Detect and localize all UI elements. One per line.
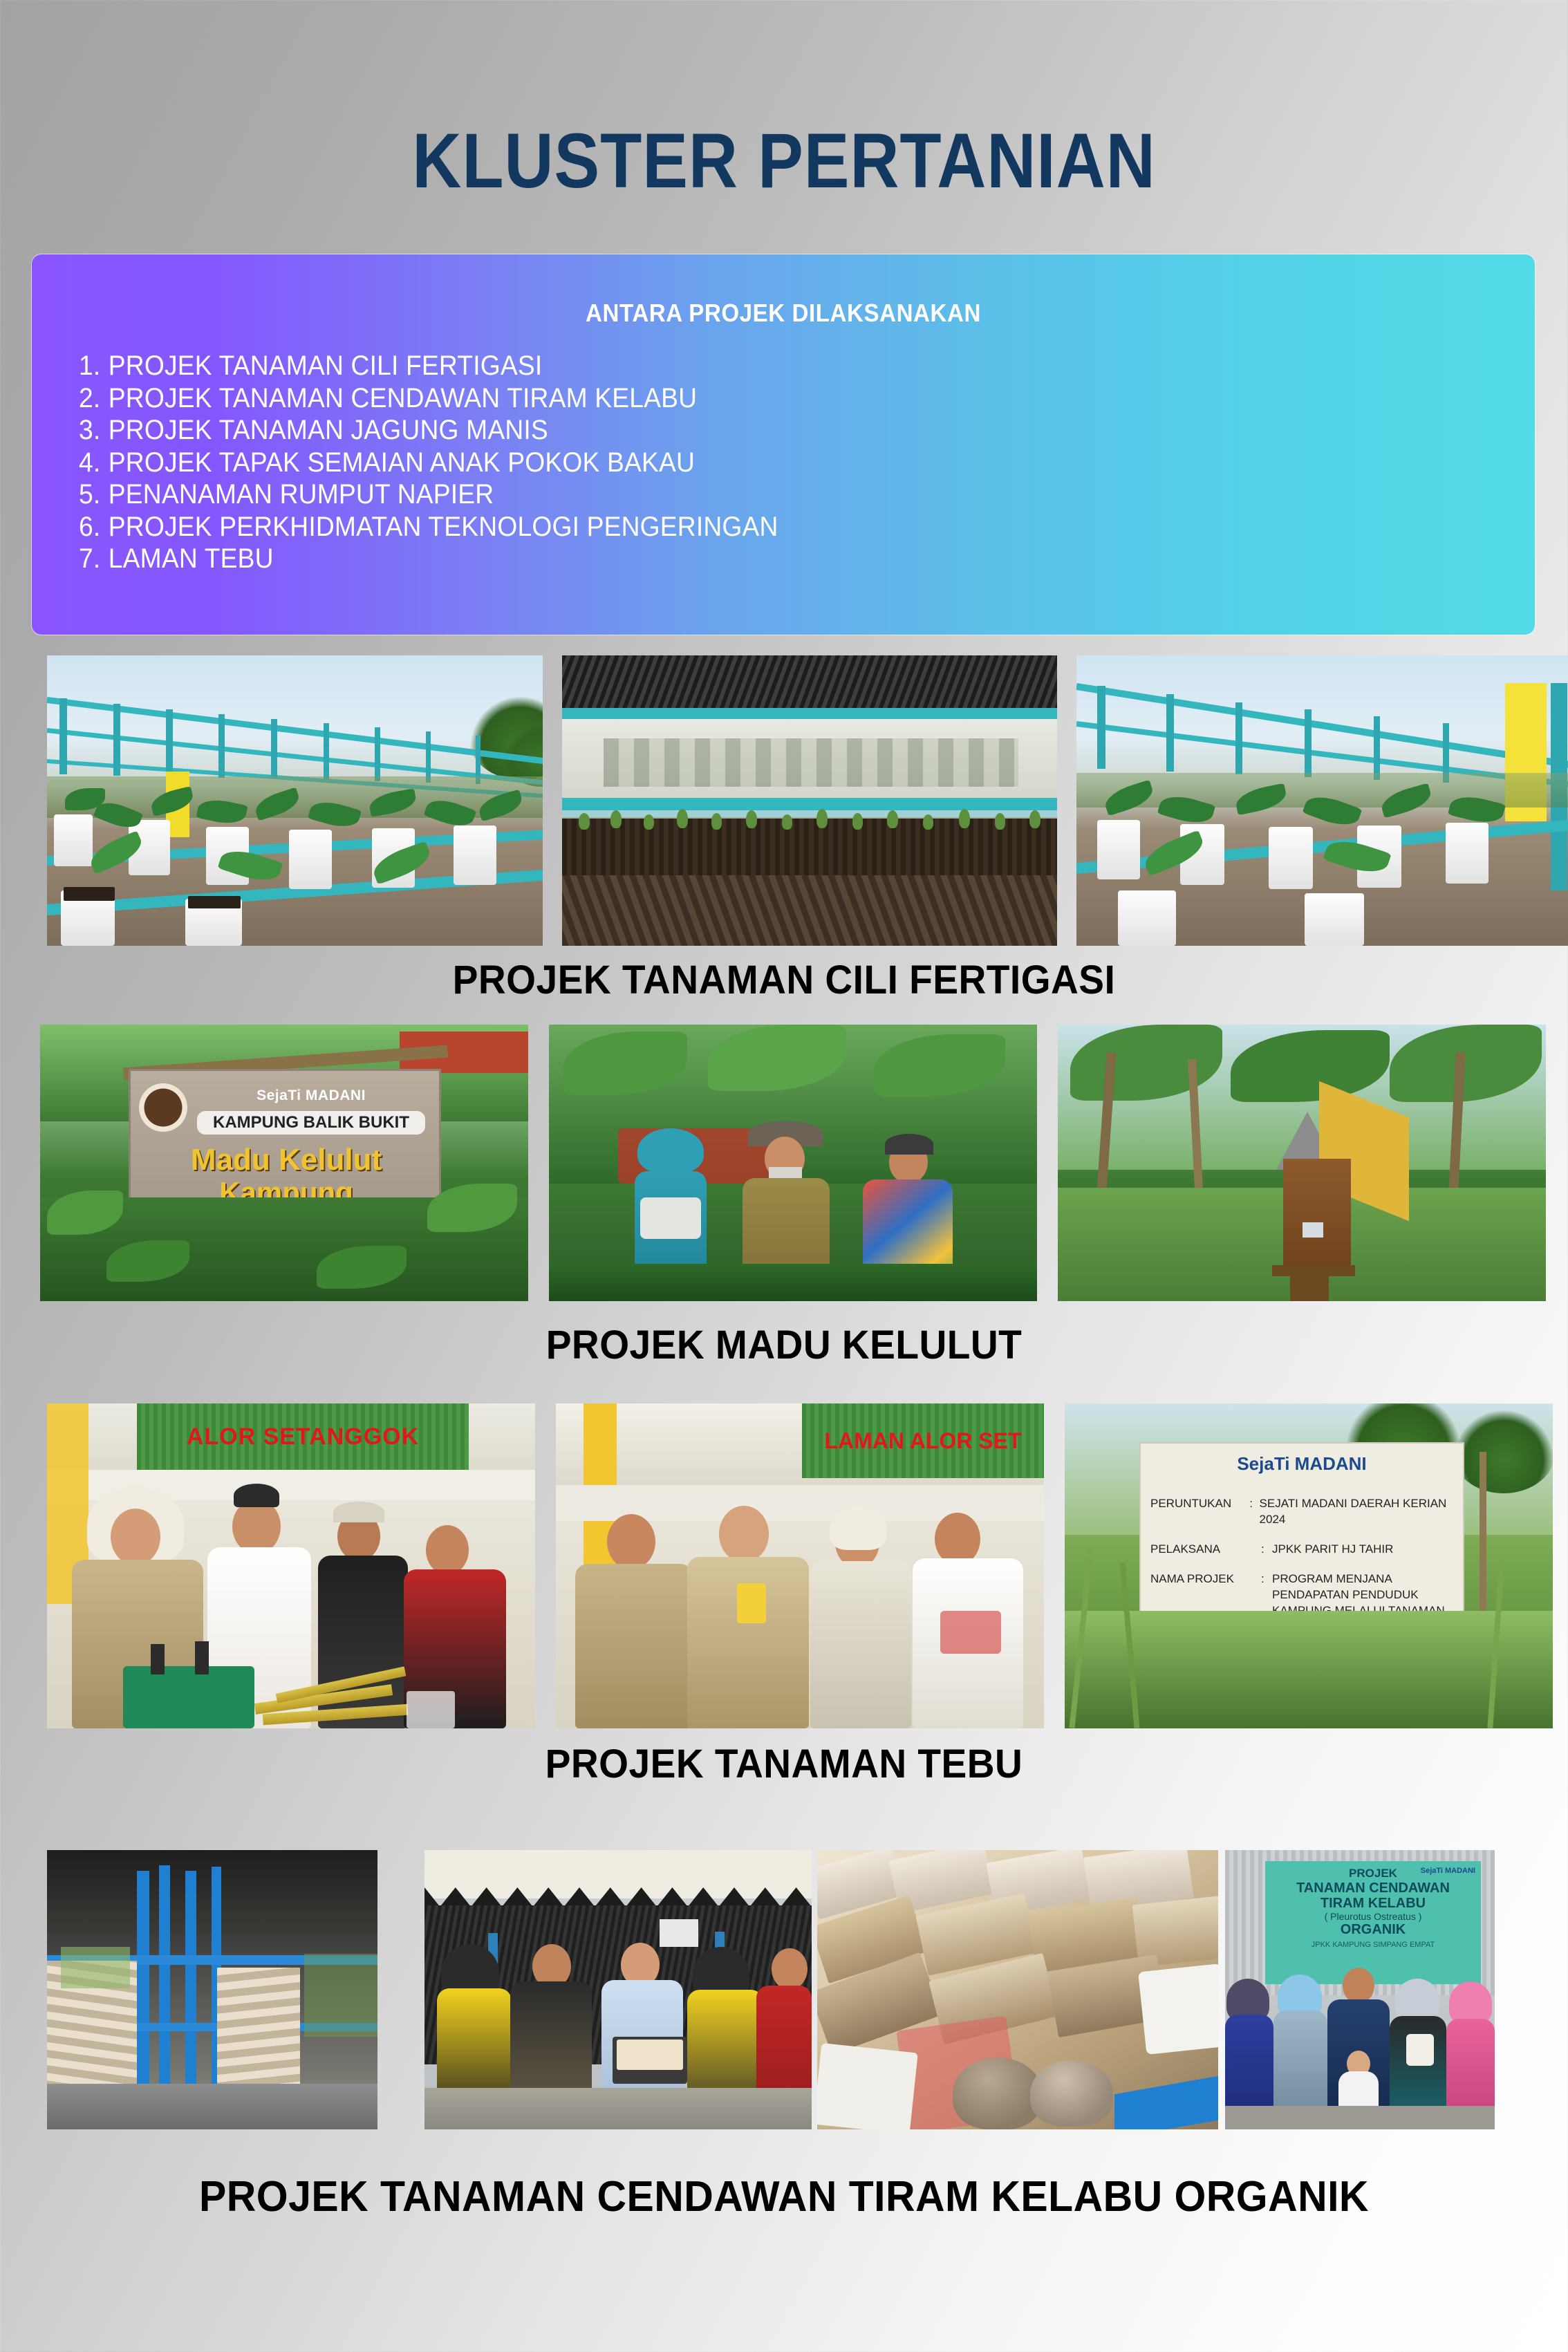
tebu-booth-banner-2: LAMAN ALOR SET [802, 1403, 1044, 1478]
photo-kelulut-hive [1058, 1025, 1546, 1301]
projects-panel: ANTARA PROJEK DILAKSANAKAN 1.PROJEK TANA… [32, 254, 1535, 635]
list-item-label: LAMAN TEBU [109, 543, 274, 574]
section-caption-cili: PROJEK TANAMAN CILI FERTIGASI [39, 957, 1529, 1003]
list-item: 4.PROJEK TAPAK SEMAIAN ANAK POKOK BAKAU [79, 447, 1433, 479]
tebu-sign-brand: SejaTi MADANI [1150, 1453, 1453, 1475]
cendawan-banner-line4: ( Pleurotus Ostreatus ) [1269, 1911, 1477, 1922]
list-item-label: PROJEK PERKHIDMATAN TEKNOLOGI PENGERINGA… [109, 512, 778, 542]
cendawan-banner-line2: TANAMAN CENDAWAN [1269, 1880, 1477, 1896]
list-item: 7.LAMAN TEBU [79, 543, 1433, 575]
list-item-number: 5. [79, 478, 109, 511]
photo-row-tebu: ALOR SETANGGOK LAMAN ALOR SET [47, 1403, 1553, 1728]
list-item-number: 2. [79, 382, 109, 415]
kelulut-sign-product-1: Madu Kelulut [138, 1143, 435, 1177]
list-item: 3.PROJEK TANAMAN JAGUNG MANIS [79, 414, 1433, 447]
section-caption-cendawan: PROJEK TANAMAN CENDAWAN TIRAM KELABU ORG… [39, 2172, 1529, 2221]
page-title: KLUSTER PERTANIAN [94, 116, 1474, 205]
list-item-label: PENANAMAN RUMPUT NAPIER [109, 479, 494, 510]
tebu-sign-value: SEJATI MADANI DAERAH KERIAN 2024 [1260, 1495, 1453, 1527]
list-item-number: 7. [79, 543, 109, 575]
photo-kelulut-people [549, 1025, 1037, 1301]
section-caption-kelulut: PROJEK MADU KELULUT [39, 1322, 1529, 1368]
list-item: 6.PROJEK PERKHIDMATAN TEKNOLOGI PENGERIN… [79, 511, 1433, 543]
photo-row-cendawan: PROJEK TANAMAN CENDAWAN TIRAM KELABU ( P… [47, 1850, 1495, 2129]
kelulut-sign-village: KAMPUNG BALIK BUKIT [197, 1111, 425, 1135]
photo-mushroom-bags [817, 1850, 1218, 2129]
project-list: 1.PROJEK TANAMAN CILI FERTIGASI 2.PROJEK… [79, 350, 1535, 575]
tebu-sign-label: PERUNTUKAN [1150, 1495, 1249, 1527]
list-item-label: PROJEK TANAMAN JAGUNG MANIS [109, 415, 548, 445]
bee-hive-box [1283, 1159, 1351, 1269]
cendawan-banner-line6: JPKK KAMPUNG SIMPANG EMPAT [1269, 1941, 1477, 1949]
list-item-label: PROJEK TAPAK SEMAIAN ANAK POKOK BAKAU [109, 447, 695, 478]
photo-mushroom-group [424, 1850, 812, 2129]
photo-mushroom-banner-group: PROJEK TANAMAN CENDAWAN TIRAM KELABU ( P… [1225, 1850, 1495, 2129]
list-item-number: 6. [79, 511, 109, 543]
photo-kelulut-signboard: SejaTi MADANI KAMPUNG BALIK BUKIT Madu K… [40, 1025, 528, 1301]
photo-row-kelulut: SejaTi MADANI KAMPUNG BALIK BUKIT Madu K… [40, 1025, 1546, 1301]
tebu-booth-banner: ALOR SETANGGOK [137, 1403, 469, 1470]
photo-row-cili [47, 655, 1568, 946]
list-item-number: 4. [79, 447, 109, 479]
cendawan-banner: PROJEK TANAMAN CENDAWAN TIRAM KELABU ( P… [1265, 1861, 1481, 1984]
list-item-number: 1. [79, 350, 109, 382]
kelulut-sign-brand: SejaTi MADANI [197, 1088, 425, 1104]
list-item: 5.PENANAMAN RUMPUT NAPIER [79, 478, 1433, 511]
photo-chili-polybags [1076, 655, 1568, 946]
list-item-number: 3. [79, 414, 109, 447]
photo-tebu-signboard: SejaTi MADANI PERUNTUKAN:SEJATI MADANI D… [1065, 1403, 1553, 1728]
kelulut-sign: SejaTi MADANI KAMPUNG BALIK BUKIT Madu K… [129, 1069, 441, 1214]
cendawan-banner-line3: TIRAM KELABU [1269, 1896, 1477, 1911]
photo-tebu-officials: LAMAN ALOR SET [556, 1403, 1044, 1728]
list-item: 1.PROJEK TANAMAN CILI FERTIGASI [79, 350, 1433, 382]
list-item: 2.PROJEK TANAMAN CENDAWAN TIRAM KELABU [79, 382, 1433, 415]
photo-mangrove-nursery [562, 655, 1057, 946]
list-item-label: PROJEK TANAMAN CENDAWAN TIRAM KELABU [109, 383, 697, 413]
cendawan-banner-brand: SejaTi MADANI [1421, 1867, 1475, 1875]
list-item-label: PROJEK TANAMAN CILI FERTIGASI [109, 351, 543, 381]
panel-heading: ANTARA PROJEK DILAKSANAKAN [92, 299, 1475, 328]
section-caption-tebu: PROJEK TANAMAN TEBU [39, 1741, 1529, 1787]
tebu-sign-value: JPKK PARIT HJ TAHIR [1272, 1541, 1393, 1557]
photo-mushroom-house [47, 1850, 377, 2129]
tebu-sign-label: PELAKSANA [1150, 1541, 1261, 1557]
photo-chili-fertigation [47, 655, 543, 946]
cendawan-banner-line5: ORGANIK [1269, 1922, 1477, 1938]
photo-tebu-juice-booth: ALOR SETANGGOK [47, 1403, 535, 1728]
